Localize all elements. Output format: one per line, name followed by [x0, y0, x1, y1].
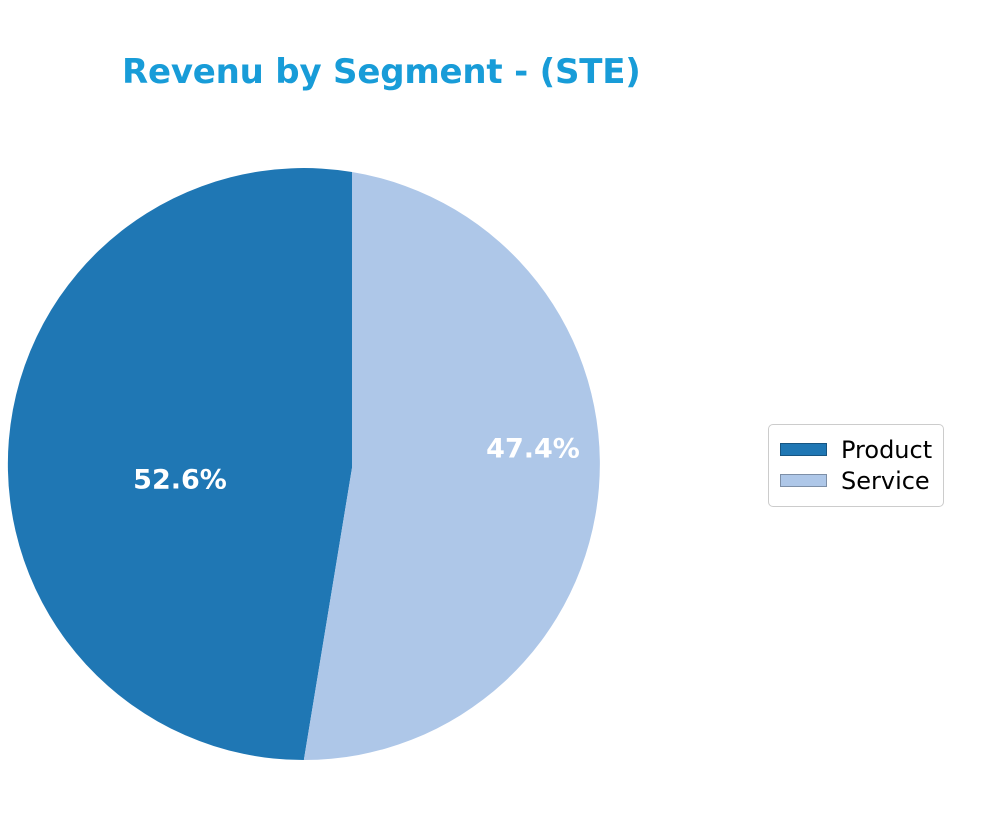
legend-label-service: Service	[841, 469, 930, 493]
chart-canvas: Revenu by Segment - (STE) 52.6% 47.4% Pr…	[0, 0, 1000, 821]
legend-swatch-product-icon	[780, 443, 827, 456]
pie-slice-product[interactable]	[8, 168, 352, 760]
pie-svg	[0, 0, 760, 821]
chart-legend: Product Service	[768, 424, 944, 507]
legend-item-product[interactable]: Product	[780, 434, 932, 465]
legend-label-product: Product	[841, 438, 932, 462]
pie-chart: 52.6% 47.4%	[0, 0, 760, 821]
legend-item-service[interactable]: Service	[780, 465, 932, 496]
legend-swatch-service-icon	[780, 474, 827, 487]
